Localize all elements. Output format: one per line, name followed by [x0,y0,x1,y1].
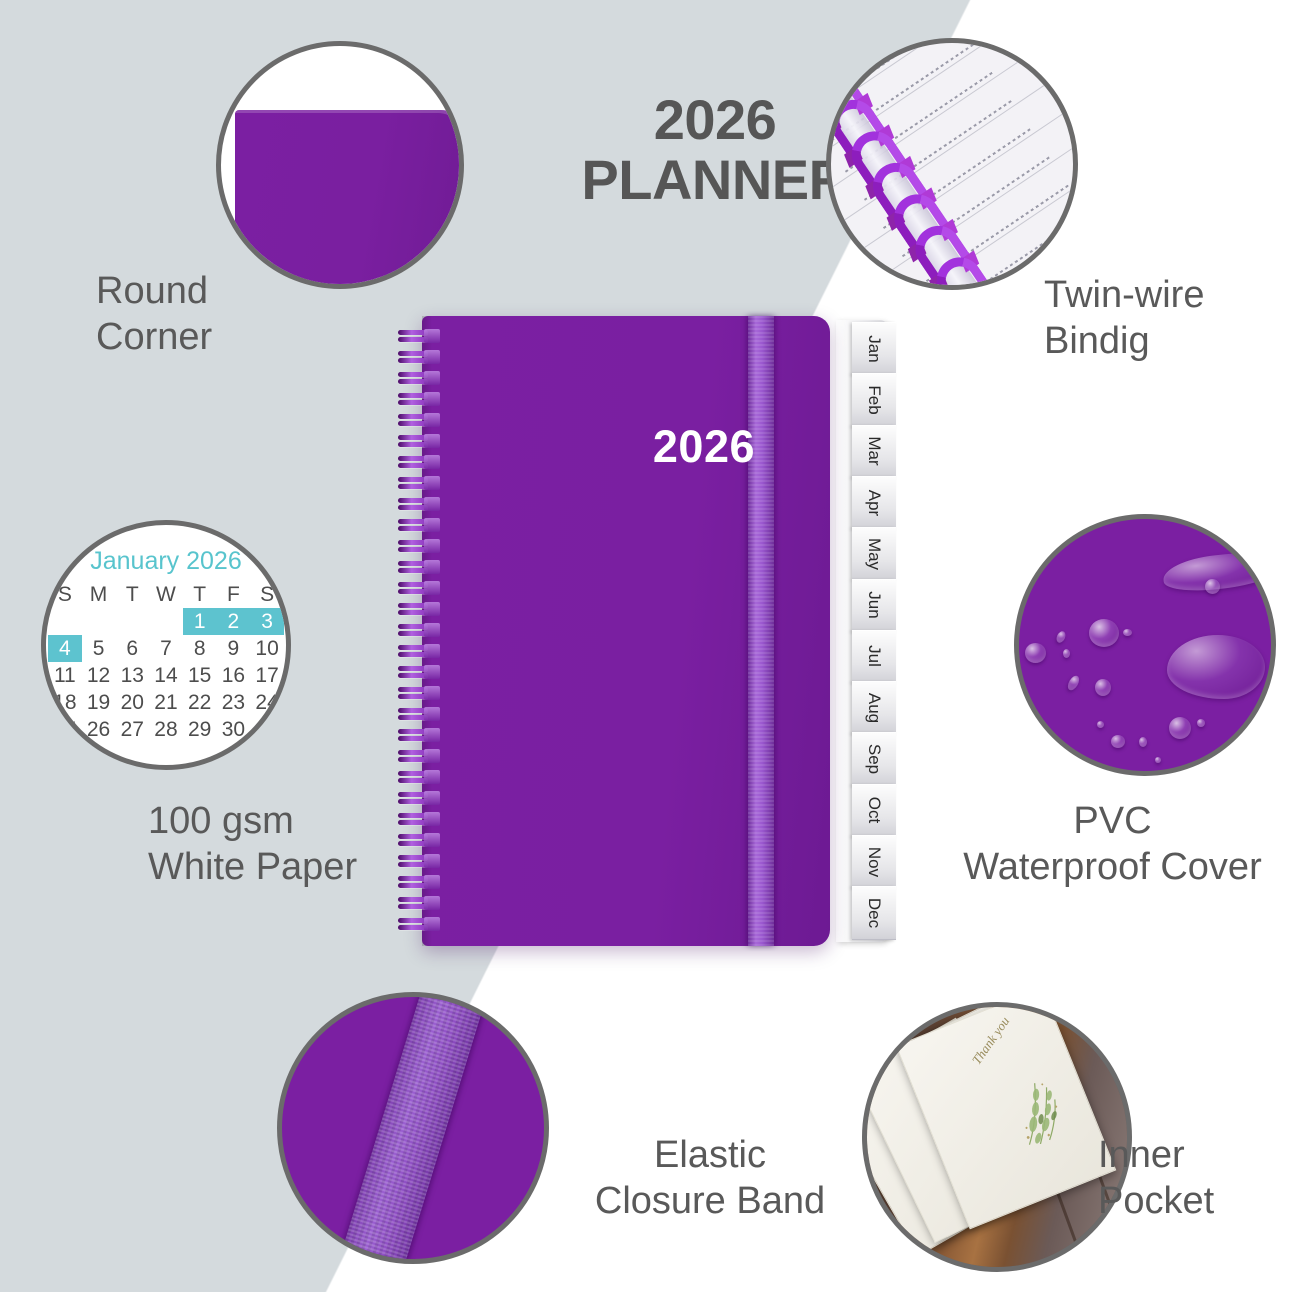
wire-coil [398,708,442,721]
calendar-day-25: 25 [48,716,82,743]
wire-coil [398,666,442,679]
wire-coil [398,687,442,700]
wire-coil [398,729,442,742]
wire-coil [398,540,442,553]
calendar-weekday-1: M [82,581,116,608]
calendar-day-11: 11 [48,662,82,689]
month-tab-label: Jul [864,646,884,668]
feature-image-paper-calendar: January 2026 SMTWTFS 1234567891011121314… [41,520,291,770]
month-tab-label: Jan [864,335,884,362]
calendar-week-row: 18192021222324 [48,689,284,716]
month-tab-may: May [852,527,896,580]
calendar-table: SMTWTFS 12345678910111213141516171819202… [48,581,284,743]
month-tab-aug: Aug [852,681,896,734]
month-tab-mar: Mar [852,425,896,478]
calendar-body: 1234567891011121314151617181920212223242… [48,608,284,743]
calendar-day-21: 21 [149,689,183,716]
calendar-day-1: 1 [183,608,217,635]
month-tab-sep: Sep [852,732,896,785]
month-tab-nov: Nov [852,835,896,888]
water-drop [1205,579,1220,594]
water-drop [1111,735,1125,748]
rounded-corner-shape [235,110,464,289]
water-drop [1089,619,1119,647]
calendar-day-9: 9 [217,635,251,662]
month-tab-label: Jun [864,591,884,618]
calendar-day-empty [115,608,149,635]
wire-coil [398,645,442,658]
calendar-day-7: 7 [149,635,183,662]
planner-elastic-band [748,316,774,946]
feature-label-pvc: PVC Waterproof Cover [935,798,1290,891]
calendar-weekday-6: S [250,581,284,608]
calendar-day-30: 30 [217,716,251,743]
water-drop-small [1063,649,1070,658]
calendar-weekday-4: T [183,581,217,608]
month-tab-label: May [864,538,884,570]
month-tab-label: Dec [864,898,884,928]
feature-label-paper: 100 gsm White Paper [148,798,357,891]
month-tab-dec: Dec [852,886,896,939]
feature-label-inner-pocket: Inner Pocket [1098,1132,1214,1225]
wire-coil [398,603,442,616]
month-tab-feb: Feb [852,373,896,426]
month-tab-jan: Jan [852,322,896,375]
wire-coil [398,624,442,637]
calendar-day-10: 10 [250,635,284,662]
wire-coil [398,393,442,406]
calendar-day-19: 19 [82,689,116,716]
wire-coil [398,519,442,532]
elastic-band-strip [321,992,505,1264]
calendar-day-empty [149,608,183,635]
month-tab-label: Feb [864,385,884,414]
water-drop-small [1123,629,1132,636]
planner-cover: 2026 [422,316,830,946]
feature-label-round-corner: Round Corner [96,268,212,361]
calendar-day-16: 16 [217,662,251,689]
month-tab-label: Oct [864,797,884,823]
calendar-day-empty [82,608,116,635]
calendar-day-18: 18 [48,689,82,716]
wire-coil [398,750,442,763]
month-tab-label: Mar [864,437,884,466]
calendar-week-row: 11121314151617 [48,662,284,689]
calendar-day-13: 13 [115,662,149,689]
water-drop-small [1139,737,1147,747]
calendar-day-29: 29 [183,716,217,743]
feature-image-round-corner [216,41,464,289]
calendar-day-6: 6 [115,635,149,662]
water-blob-large [1167,635,1265,699]
month-tab-label: Sep [864,744,884,774]
wire-coil [398,855,442,868]
calendar-day-4: 4 [48,635,82,662]
calendar-week-row: 45678910 [48,635,284,662]
water-drop-small [1097,721,1104,728]
wire-coil [398,834,442,847]
water-drop [1025,643,1046,663]
wire-coil [398,477,442,490]
wire-coil [398,813,442,826]
feature-label-twin-wire: Twin-wire Bindig [1044,272,1204,365]
infographic-canvas: 2026 PLANNER Round Corner Twin-wire Bind… [0,0,1300,1292]
wire-coil [398,456,442,469]
calendar-day-14: 14 [149,662,183,689]
calendar-weekday-2: T [115,581,149,608]
month-tab-label: Aug [864,693,884,723]
calendar-day-2: 2 [217,608,251,635]
wire-coil [398,897,442,910]
water-drop [1169,717,1191,739]
calendar-weekday-row: SMTWTFS [48,581,284,608]
calendar-day-5: 5 [82,635,116,662]
water-drop-small [1197,719,1205,727]
feature-image-inner-pocket: Thank you [862,1002,1132,1272]
calendar-day-8: 8 [183,635,217,662]
feature-image-elastic-band [277,992,549,1264]
wire-coil [398,771,442,784]
planner-twin-wire-spine [398,330,438,930]
month-tab-jul: Jul [852,630,896,683]
month-tab-label: Nov [864,847,884,877]
calendar-day-12: 12 [82,662,116,689]
calendar-day-20: 20 [115,689,149,716]
calendar-title: January 2026 [48,547,284,576]
calendar-day-15: 15 [183,662,217,689]
thank-you-text: Thank you [969,1014,1013,1068]
wire-coil [398,435,442,448]
calendar-week-row: 123 [48,608,284,635]
wire-coil [398,792,442,805]
month-tab-label: Apr [864,489,884,515]
wire-coil [398,582,442,595]
feature-image-twin-wire [826,38,1078,290]
planner-month-tabs: JanFebMarAprMayJunJulAugSepOctNovDec [852,322,896,938]
calendar-day-24: 24 [250,689,284,716]
wire-coil [398,372,442,385]
water-drop [1095,679,1111,696]
water-drop-small [1066,674,1082,692]
wire-coil [398,561,442,574]
feature-image-pvc-waterproof [1014,514,1276,776]
botanical-illustration [982,1053,1090,1165]
notebook-page-lines [826,38,1078,290]
calendar-day-22: 22 [183,689,217,716]
calendar-week-row: 25262728293031 [48,716,284,743]
wire-coil [398,330,442,343]
calendar-weekday-0: S [48,581,82,608]
calendar-weekday-3: W [149,581,183,608]
month-tab-oct: Oct [852,784,896,837]
calendar-weekday-5: F [217,581,251,608]
wire-coil [398,498,442,511]
feature-label-elastic: Elastic Closure Band [575,1132,845,1225]
calendar-day-31: 31 [250,716,284,743]
calendar-widget: January 2026 SMTWTFS 1234567891011121314… [48,547,284,743]
month-tab-jun: Jun [852,579,896,632]
calendar-day-23: 23 [217,689,251,716]
calendar-day-26: 26 [82,716,116,743]
calendar-day-17: 17 [250,662,284,689]
water-drop-small [1055,630,1067,644]
month-tab-apr: Apr [852,476,896,529]
calendar-day-3: 3 [250,608,284,635]
wire-coil [398,414,442,427]
calendar-day-empty [48,608,82,635]
wire-coil [398,351,442,364]
calendar-day-28: 28 [149,716,183,743]
water-drop-small [1155,757,1161,763]
planner-cover-year: 2026 [653,421,755,473]
wire-coil [398,918,442,931]
calendar-day-27: 27 [115,716,149,743]
wire-coil [398,876,442,889]
